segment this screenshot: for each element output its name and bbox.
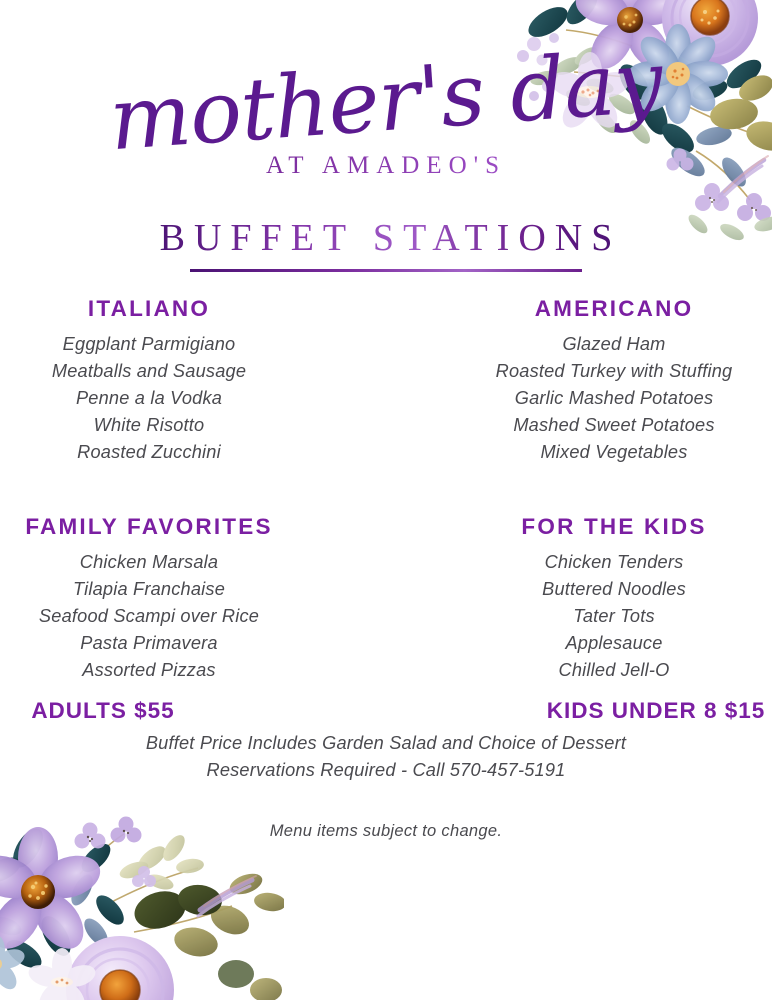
pricing-row: ADULTS $55 KIDS UNDER 8 $15 (0, 698, 772, 724)
menu-item: Penne a la Vodka (0, 385, 298, 412)
menu-section-italiano: ITALIANO Eggplant Parmigiano Meatballs a… (0, 296, 386, 466)
menu-item: Seafood Scampi over Rice (0, 603, 298, 630)
page-title: mother's day (107, 39, 665, 163)
menu-item: Chicken Marsala (0, 549, 298, 576)
flyer-page: mother's day AT AMADEO'S BUFFET STATIONS… (0, 0, 772, 1000)
section-title: FAMILY FAVORITES (0, 514, 298, 540)
menu-item: Glazed Ham (456, 331, 772, 358)
menu-section-family-favorites: FAMILY FAVORITES Chicken Marsala Tilapia… (0, 514, 386, 684)
notes-block: Buffet Price Includes Garden Salad and C… (0, 730, 772, 784)
pricing-kids: KIDS UNDER 8 $15 (386, 698, 772, 724)
stations-divider (190, 269, 582, 272)
pricing-adults: ADULTS $55 (0, 698, 386, 724)
menu-item: Roasted Zucchini (0, 439, 298, 466)
menu-item: White Risotto (0, 412, 298, 439)
floral-bouquet-bottom-left-icon (0, 814, 284, 1000)
kids-price-label: KIDS UNDER 8 $15 (547, 698, 766, 723)
title-block: mother's day AT AMADEO'S (0, 58, 772, 180)
stations-title: BUFFET STATIONS (151, 216, 622, 260)
section-title: FOR THE KIDS (456, 514, 772, 540)
menu-row-2: FAMILY FAVORITES Chicken Marsala Tilapia… (0, 514, 772, 684)
menu-item: Buttered Noodles (456, 576, 772, 603)
stations-header: BUFFET STATIONS (0, 216, 772, 272)
adults-price-label: ADULTS $55 (31, 698, 174, 723)
menu-item: Tilapia Franchaise (0, 576, 298, 603)
note-included: Buffet Price Includes Garden Salad and C… (0, 730, 772, 757)
menu-item: Pasta Primavera (0, 630, 298, 657)
menu-item: Assorted Pizzas (0, 657, 298, 684)
menu-section-americano: AMERICANO Glazed Ham Roasted Turkey with… (386, 296, 772, 466)
section-title: ITALIANO (0, 296, 298, 322)
disclaimer-text: Menu items subject to change. (0, 822, 772, 841)
menu-item: Roasted Turkey with Stuffing (456, 358, 772, 385)
disclaimer-block: Menu items subject to change. (0, 822, 772, 841)
menu-item: Chilled Jell-O (456, 657, 772, 684)
menu-item: Applesauce (456, 630, 772, 657)
menu-item: Chicken Tenders (456, 549, 772, 576)
menu-section-for-the-kids: FOR THE KIDS Chicken Tenders Buttered No… (386, 514, 772, 684)
menu-sections: ITALIANO Eggplant Parmigiano Meatballs a… (0, 296, 772, 684)
menu-item: Tater Tots (456, 603, 772, 630)
menu-row-1: ITALIANO Eggplant Parmigiano Meatballs a… (0, 296, 772, 466)
menu-item: Mashed Sweet Potatoes (456, 412, 772, 439)
menu-item: Eggplant Parmigiano (0, 331, 298, 358)
menu-item: Garlic Mashed Potatoes (456, 385, 772, 412)
note-reservations: Reservations Required - Call 570-457-519… (0, 757, 772, 784)
section-title: AMERICANO (456, 296, 772, 322)
menu-item: Meatballs and Sausage (0, 358, 298, 385)
menu-item: Mixed Vegetables (456, 439, 772, 466)
